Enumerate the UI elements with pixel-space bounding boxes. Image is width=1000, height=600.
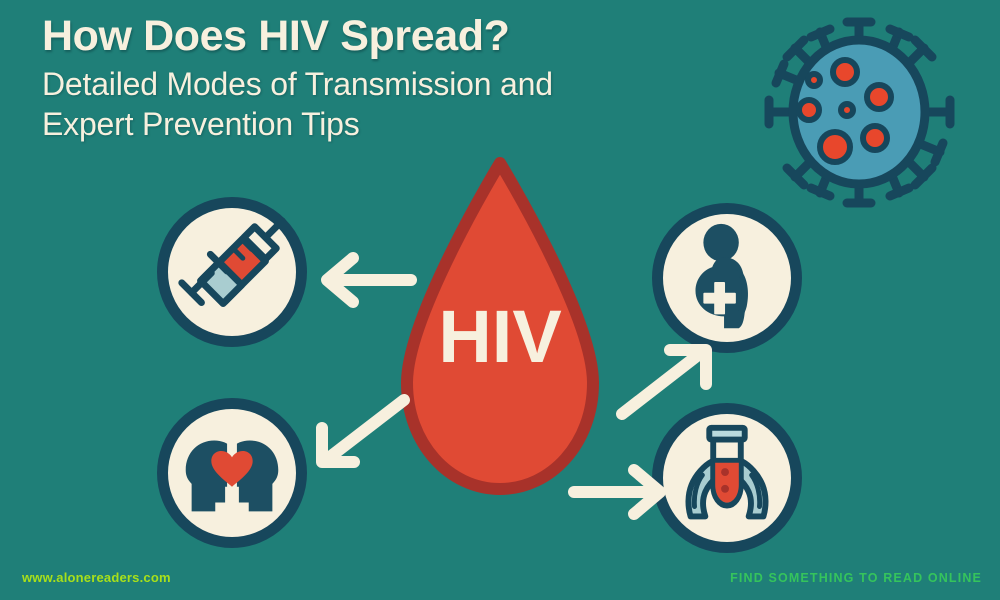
title-block: How Does HIV Spread? Detailed Modes of T… [42, 14, 762, 144]
arrow-up-right-icon [612, 336, 724, 424]
transmission-icon-couple[interactable] [157, 398, 307, 548]
infographic-canvas: How Does HIV Spread? Detailed Modes of T… [0, 0, 1000, 600]
transmission-icon-pregnancy[interactable] [652, 203, 802, 353]
hiv-virus-icon [757, 10, 962, 215]
arrow-down-left-icon [308, 388, 416, 474]
subtitle-line-1: Detailed Modes of Transmission and [42, 64, 762, 104]
arrow-right-icon [566, 458, 678, 526]
arrow-left-icon [313, 248, 418, 312]
footer-site-url[interactable]: www.alonereaders.com [22, 570, 171, 585]
subtitle-line-2: Expert Prevention Tips [42, 104, 762, 144]
blood-drop-icon [395, 155, 605, 497]
transmission-icon-syringe[interactable] [157, 197, 307, 347]
page-title: How Does HIV Spread? [42, 14, 762, 60]
footer-tagline: FIND SOMETHING TO READ ONLINE [730, 571, 982, 585]
